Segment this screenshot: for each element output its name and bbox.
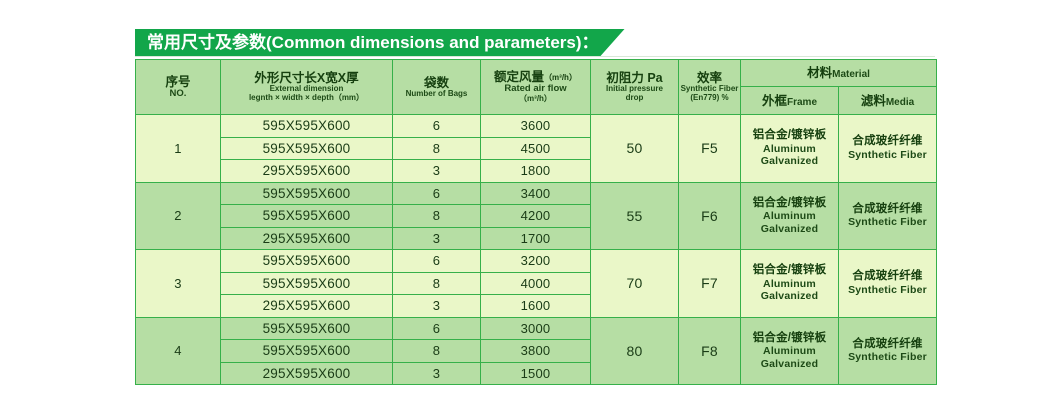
header-dimension-cn: 外形尺寸长X宽X厚 (221, 71, 392, 85)
cell-media-cn: 合成玻纤纤维 (839, 203, 936, 217)
header-efficiency-en2: (En779) % (679, 94, 740, 103)
cell-frame-en1: Aluminum (741, 278, 838, 290)
spec-table-wrapper: 序号 NO. 外形尺寸长X宽X厚 External dimension legn… (135, 59, 937, 385)
cell-group-no: 1 (136, 115, 221, 183)
header-frame: 外框Frame (741, 87, 839, 115)
cell-bags: 6 (393, 317, 481, 340)
table-row: 3595X595X6006320070F7铝合金/镀锌板AluminumGalv… (136, 250, 937, 273)
table-row: 2595X595X6006340055F6铝合金/镀锌板AluminumGalv… (136, 182, 937, 205)
cell-bags: 8 (393, 205, 481, 228)
cell-dimension: 595X595X600 (221, 272, 393, 295)
cell-dimension: 595X595X600 (221, 340, 393, 363)
header-media-cn: 滤料 (861, 94, 886, 108)
cell-airflow: 3200 (481, 250, 591, 273)
cell-airflow: 1700 (481, 227, 591, 250)
cell-media-en: Synthetic Fiber (839, 216, 936, 228)
cell-media-material: 合成玻纤纤维Synthetic Fiber (839, 317, 937, 385)
cell-pressure-drop: 70 (591, 250, 679, 318)
cell-frame-en2: Galvanized (741, 155, 838, 167)
table-header: 序号 NO. 外形尺寸长X宽X厚 External dimension legn… (136, 60, 937, 115)
cell-media-cn: 合成玻纤纤维 (839, 135, 936, 149)
cell-frame-en1: Aluminum (741, 143, 838, 155)
cell-bags: 3 (393, 160, 481, 183)
cell-frame-en2: Galvanized (741, 358, 838, 370)
table-body: 1595X595X6006360050F5铝合金/镀锌板AluminumGalv… (136, 115, 937, 385)
header-frame-en: Frame (787, 97, 817, 108)
header-material: 材料Material (741, 60, 937, 87)
header-efficiency: 效率 Synthetic Fiber (En779) % (679, 60, 741, 115)
cell-bags: 3 (393, 295, 481, 318)
cell-bags: 6 (393, 182, 481, 205)
cell-airflow: 4000 (481, 272, 591, 295)
cell-bags: 3 (393, 362, 481, 385)
cell-bags: 8 (393, 137, 481, 160)
cell-pressure-drop: 50 (591, 115, 679, 183)
cell-frame-en2: Galvanized (741, 223, 838, 235)
cell-group-no: 3 (136, 250, 221, 318)
header-airflow-en2: （m³/h） (481, 95, 590, 104)
cell-dimension: 595X595X600 (221, 137, 393, 160)
cell-efficiency: F8 (679, 317, 741, 385)
specifications-table: 序号 NO. 外形尺寸长X宽X厚 External dimension legn… (135, 59, 937, 385)
cell-dimension: 295X595X600 (221, 295, 393, 318)
cell-group-no: 2 (136, 182, 221, 250)
table-row: 4595X595X6006300080F8铝合金/镀锌板AluminumGalv… (136, 317, 937, 340)
header-no-en: NO. (136, 89, 220, 100)
cell-bags: 8 (393, 340, 481, 363)
cell-frame-en1: Aluminum (741, 345, 838, 357)
cell-frame-en1: Aluminum (741, 210, 838, 222)
cell-airflow: 3600 (481, 115, 591, 138)
header-row-primary: 序号 NO. 外形尺寸长X宽X厚 External dimension legn… (136, 60, 937, 87)
header-frame-cn: 外框 (762, 94, 787, 108)
cell-frame-cn: 铝合金/镀锌板 (741, 129, 838, 143)
cell-pressure-drop: 80 (591, 317, 679, 385)
cell-airflow: 4500 (481, 137, 591, 160)
cell-bags: 6 (393, 115, 481, 138)
section-title: 常用尺寸及参数(Common dimensions and parameters… (135, 29, 625, 56)
header-airflow-cn: 额定风量（m³/h） (481, 70, 590, 84)
cell-airflow: 1600 (481, 295, 591, 318)
header-efficiency-cn: 效率 (679, 71, 740, 85)
cell-airflow: 1800 (481, 160, 591, 183)
cell-frame-en2: Galvanized (741, 290, 838, 302)
cell-dimension: 295X595X600 (221, 160, 393, 183)
cell-airflow: 4200 (481, 205, 591, 228)
table-row: 1595X595X6006360050F5铝合金/镀锌板AluminumGalv… (136, 115, 937, 138)
cell-airflow: 3000 (481, 317, 591, 340)
header-pressure-en2: drop (591, 94, 678, 103)
header-material-en: Material (832, 69, 870, 80)
header-pressure: 初阻力 Pa Initial pressure drop (591, 60, 679, 115)
cell-dimension: 595X595X600 (221, 205, 393, 228)
header-bags: 袋数 Number of Bags (393, 60, 481, 115)
cell-dimension: 595X595X600 (221, 250, 393, 273)
header-pressure-cn: 初阻力 Pa (591, 71, 678, 85)
cell-frame-cn: 铝合金/镀锌板 (741, 197, 838, 211)
title-underline (135, 56, 935, 57)
cell-media-cn: 合成玻纤纤维 (839, 270, 936, 284)
cell-dimension: 295X595X600 (221, 227, 393, 250)
section-title-banner: 常用尺寸及参数(Common dimensions and parameters… (135, 29, 625, 56)
header-no: 序号 NO. (136, 60, 221, 115)
header-bags-cn: 袋数 (393, 76, 480, 90)
cell-airflow: 3400 (481, 182, 591, 205)
cell-bags: 3 (393, 227, 481, 250)
cell-bags: 8 (393, 272, 481, 295)
cell-airflow: 3800 (481, 340, 591, 363)
header-bags-en: Number of Bags (393, 90, 480, 99)
cell-media-en: Synthetic Fiber (839, 284, 936, 296)
cell-media-cn: 合成玻纤纤维 (839, 338, 936, 352)
cell-frame-material: 铝合金/镀锌板AluminumGalvanized (741, 115, 839, 183)
cell-pressure-drop: 55 (591, 182, 679, 250)
cell-efficiency: F6 (679, 182, 741, 250)
cell-dimension: 595X595X600 (221, 182, 393, 205)
cell-frame-material: 铝合金/镀锌板AluminumGalvanized (741, 250, 839, 318)
cell-media-en: Synthetic Fiber (839, 149, 936, 161)
cell-media-en: Synthetic Fiber (839, 351, 936, 363)
cell-efficiency: F5 (679, 115, 741, 183)
cell-frame-material: 铝合金/镀锌板AluminumGalvanized (741, 317, 839, 385)
cell-bags: 6 (393, 250, 481, 273)
header-material-cn: 材料 (807, 66, 832, 80)
cell-media-material: 合成玻纤纤维Synthetic Fiber (839, 115, 937, 183)
header-media-en: Media (886, 97, 914, 108)
cell-dimension: 295X595X600 (221, 362, 393, 385)
cell-frame-material: 铝合金/镀锌板AluminumGalvanized (741, 182, 839, 250)
cell-efficiency: F7 (679, 250, 741, 318)
cell-group-no: 4 (136, 317, 221, 385)
cell-media-material: 合成玻纤纤维Synthetic Fiber (839, 250, 937, 318)
cell-media-material: 合成玻纤纤维Synthetic Fiber (839, 182, 937, 250)
cell-frame-cn: 铝合金/镀锌板 (741, 332, 838, 346)
header-dimension-en2: legnth × width × depth（mm） (221, 94, 392, 103)
cell-dimension: 595X595X600 (221, 115, 393, 138)
cell-dimension: 595X595X600 (221, 317, 393, 340)
cell-frame-cn: 铝合金/镀锌板 (741, 264, 838, 278)
header-airflow: 额定风量（m³/h） Rated air flow （m³/h） (481, 60, 591, 115)
cell-airflow: 1500 (481, 362, 591, 385)
header-airflow-unit: （m³/h） (544, 73, 577, 82)
header-media: 滤料Media (839, 87, 937, 115)
header-dimension: 外形尺寸长X宽X厚 External dimension legnth × wi… (221, 60, 393, 115)
header-no-cn: 序号 (136, 75, 220, 89)
